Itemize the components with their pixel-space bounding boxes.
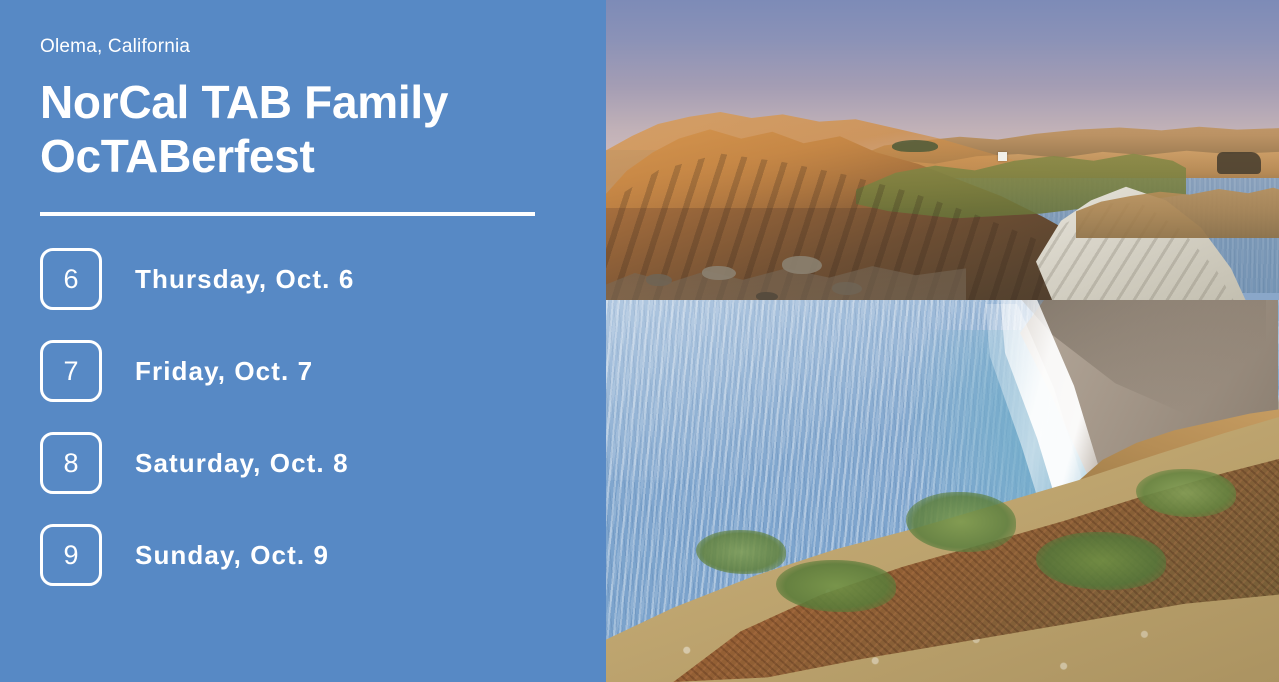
list-item: 9 Sunday, Oct. 9 — [40, 524, 606, 586]
date-badge: 7 — [40, 340, 102, 402]
date-badge: 6 — [40, 248, 102, 310]
date-badge: 8 — [40, 432, 102, 494]
list-item: 6 Thursday, Oct. 6 — [40, 248, 606, 310]
location-label: Olema, California — [40, 36, 606, 59]
date-label: Sunday, Oct. 9 — [135, 540, 329, 571]
date-badge: 9 — [40, 524, 102, 586]
page-title: NorCal TAB Family OcTABerfest — [40, 75, 560, 184]
date-label: Friday, Oct. 7 — [135, 356, 313, 387]
title-line-2: OcTABerfest — [40, 129, 560, 183]
event-poster: Olema, California NorCal TAB Family OcTA… — [0, 0, 1279, 682]
divider — [40, 212, 535, 216]
list-item: 8 Saturday, Oct. 8 — [40, 432, 606, 494]
title-line-1: NorCal TAB Family — [40, 75, 560, 129]
photo-frame — [606, 0, 1279, 682]
date-list: 6 Thursday, Oct. 6 7 Friday, Oct. 7 8 Sa… — [40, 248, 606, 586]
info-panel: Olema, California NorCal TAB Family OcTA… — [0, 0, 606, 682]
date-label: Thursday, Oct. 6 — [135, 264, 354, 295]
coastal-photograph — [606, 0, 1279, 682]
list-item: 7 Friday, Oct. 7 — [40, 340, 606, 402]
date-label: Saturday, Oct. 8 — [135, 448, 349, 479]
